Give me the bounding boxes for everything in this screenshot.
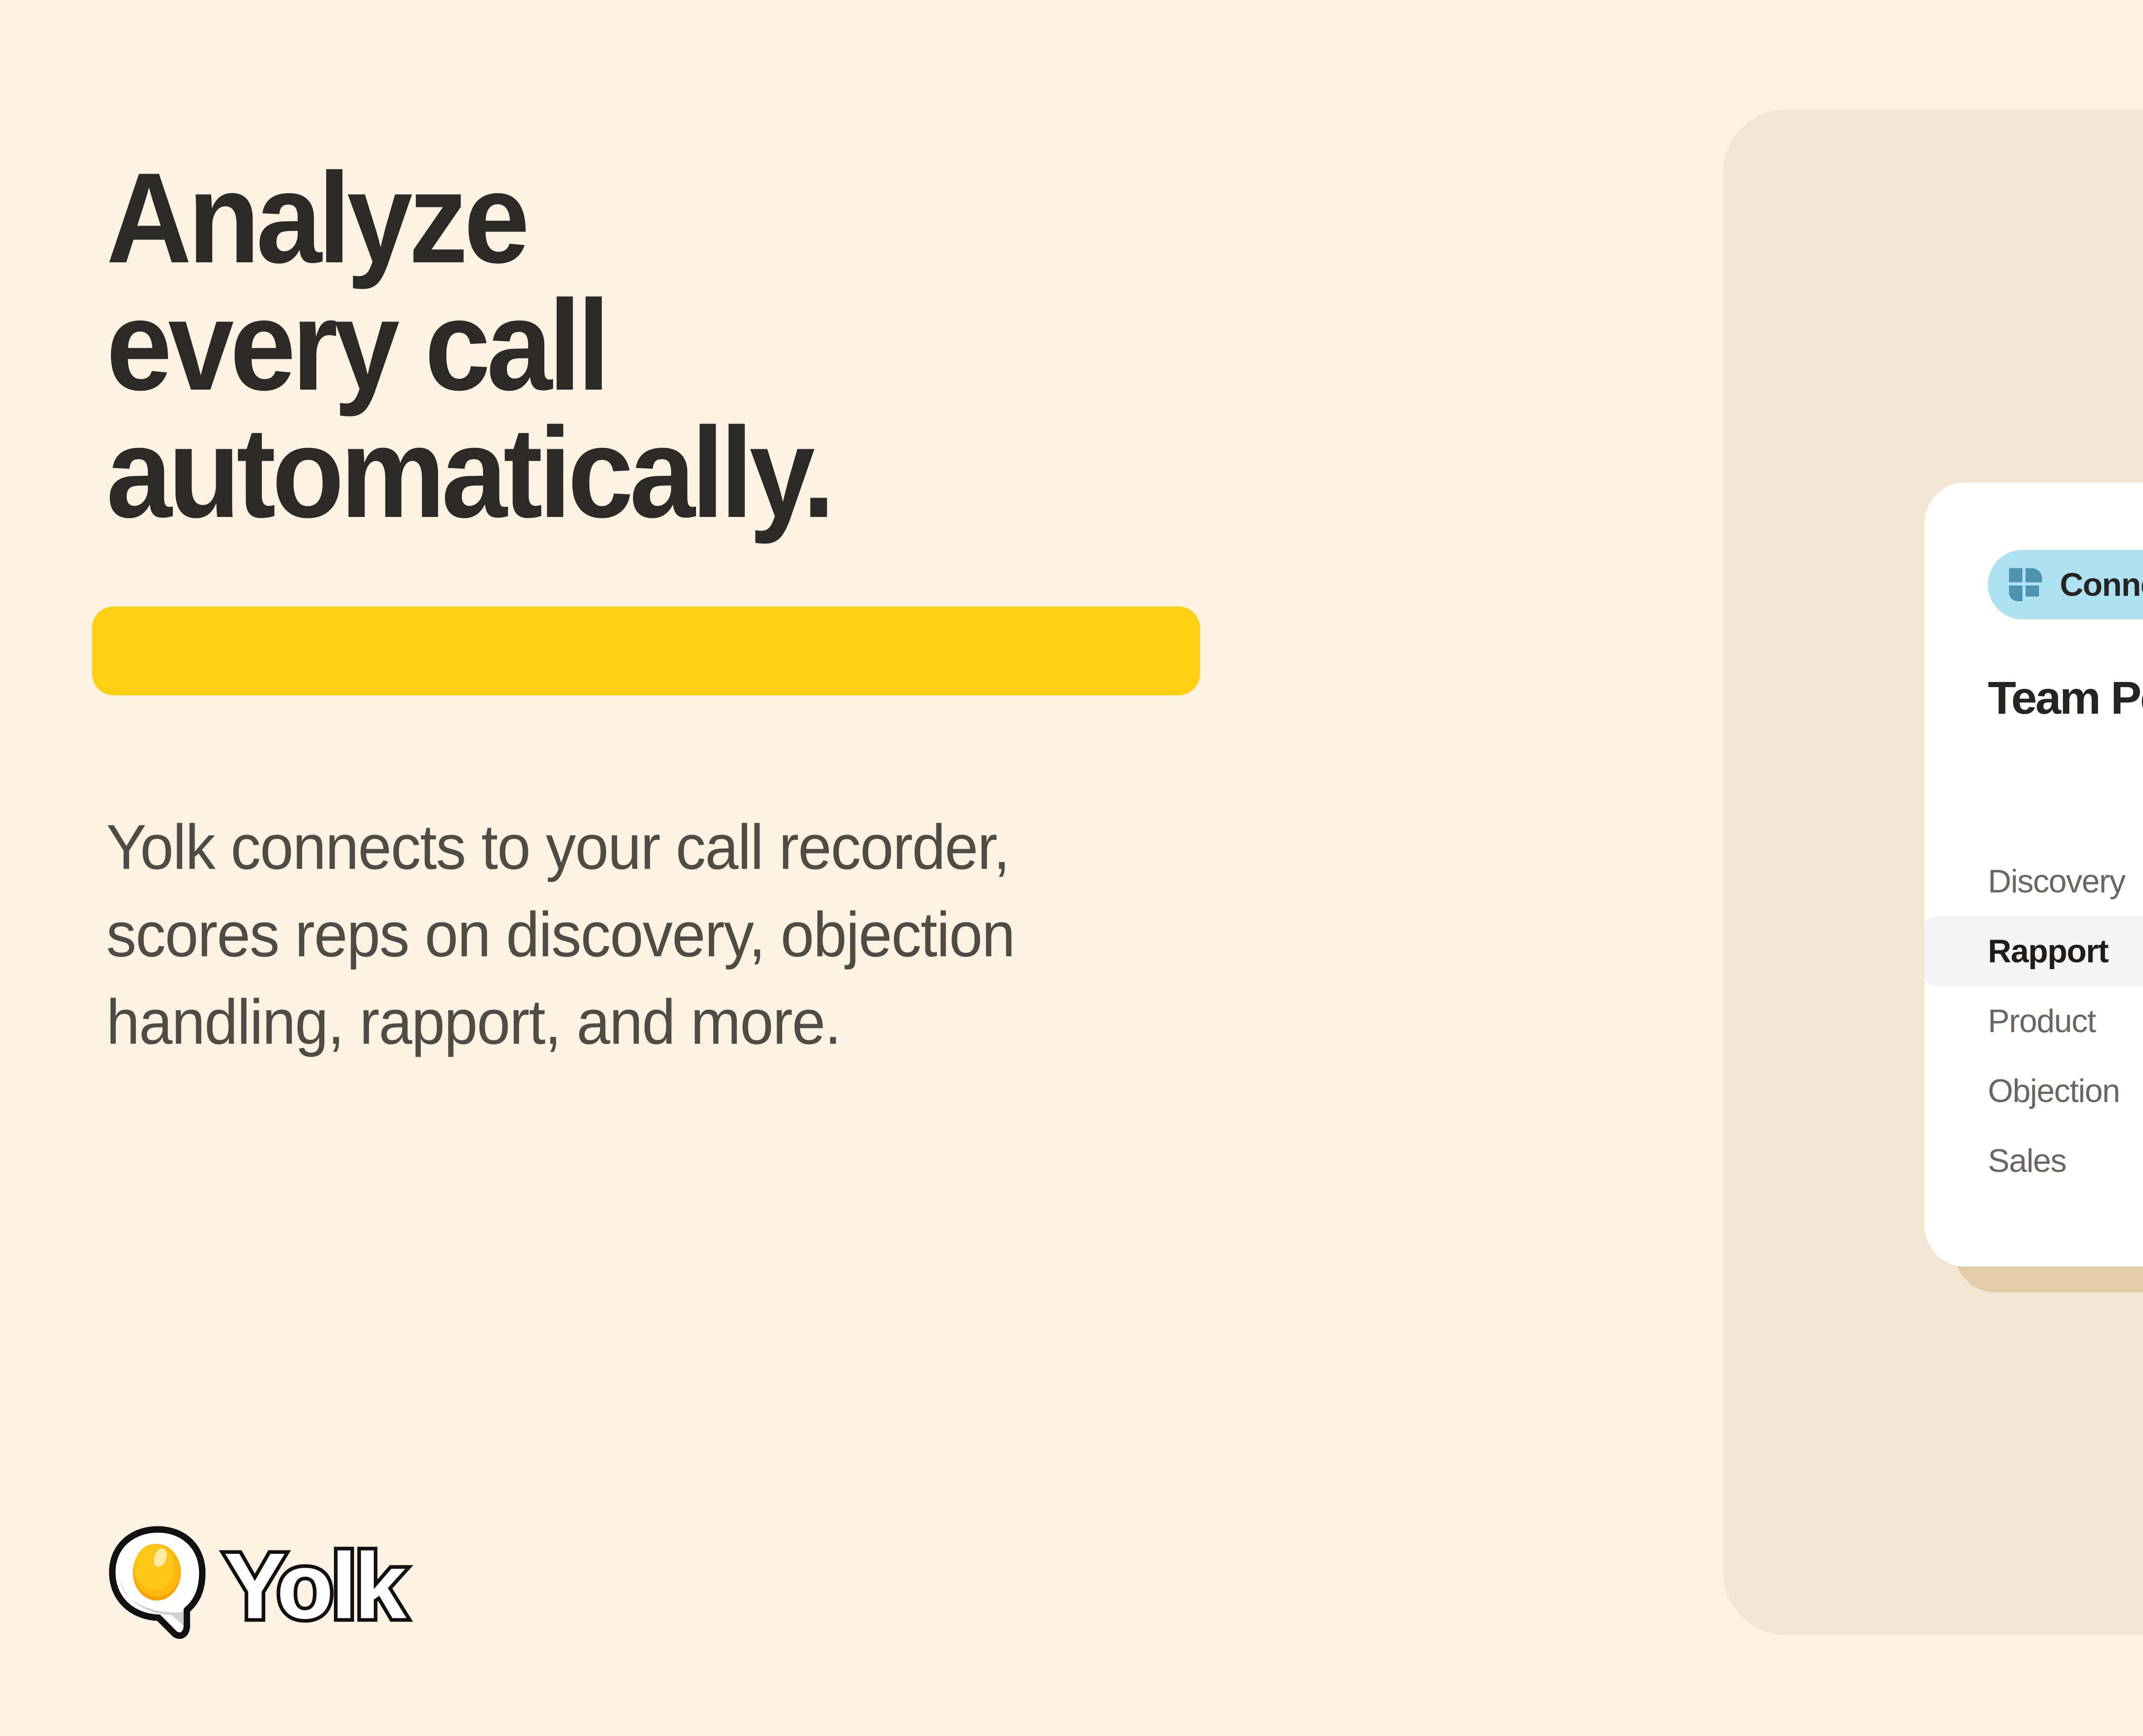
subhead-line-2: scores reps on discovery, objection [106,891,1450,979]
performance-table: Alex Josh Sarah Discovery 1 2 8 Rapport … [1924,782,2143,1196]
brand-wordmark: Yolk [224,1533,404,1640]
row-label-objection: Objection [1924,1072,2143,1110]
headline-line-2: every call [106,282,1447,409]
page-root: Analyze every call automatically. Yolk c… [0,0,2143,1736]
hero-copy: Analyze every call automatically. [106,154,1564,536]
subhead-line-3: handling, rapport, and more. [106,979,1450,1066]
row-label-discovery: Discovery [1924,863,2143,900]
team-performance-card: Connected Team Performance Alex Josh Sar… [1924,482,2143,1267]
headline-highlight-bar [92,607,1200,695]
page-title: Analyze every call automatically. [106,154,1447,536]
integration-logo-icon [2006,565,2045,604]
table-row[interactable]: Rapport 4 8 2 [1924,916,2143,986]
connected-status-badge[interactable]: Connected [1988,550,2143,619]
row-label-rapport: Rapport [1924,933,2143,970]
table-row[interactable]: Product 7 6 [1924,986,2143,1056]
headline-line-3: automatically. [106,409,1447,536]
table-row[interactable]: Sales 9 8 6 [1924,1126,2143,1196]
subhead-line-1: Yolk connects to your call recorder, [106,804,1450,891]
hero-subheadline: Yolk connects to your call recorder, sco… [106,804,1450,1066]
card-title: Team Performance [1988,671,2143,724]
row-label-product: Product [1924,1003,2143,1040]
brand-logo[interactable]: Yolk [107,1526,493,1655]
table-row[interactable]: Discovery 1 2 8 [1924,847,2143,916]
fried-egg-speech-bubble-icon [107,1526,214,1642]
row-label-sales: Sales [1924,1142,2143,1180]
headline-line-1: Analyze [106,154,1447,282]
table-header-row: Alex Josh Sarah [1924,782,2143,847]
connected-badge-label: Connected [2060,566,2143,604]
table-row[interactable]: Objection 2 3 [1924,1056,2143,1126]
